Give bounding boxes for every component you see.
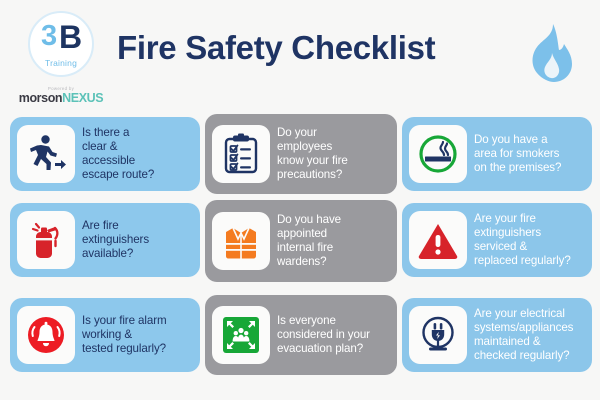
question-line: Is everyone bbox=[277, 314, 370, 328]
card-question: Are fire extinguishers available? bbox=[82, 219, 149, 262]
question-line: available? bbox=[82, 247, 149, 261]
logo-letter-b: B bbox=[59, 21, 82, 53]
logo-circle-3b-training: 3 B Training bbox=[28, 11, 94, 77]
card-extinguishers-serviced[interactable]: Are your fire extinguishers serviced & r… bbox=[402, 203, 592, 277]
card-evacuation-plan[interactable]: Is everyone considered in your evacuatio… bbox=[205, 295, 397, 375]
icon-tile bbox=[212, 212, 270, 270]
question-line: precautions? bbox=[277, 168, 348, 182]
question-line: know your fire bbox=[277, 154, 348, 168]
question-line: serviced & bbox=[474, 240, 571, 254]
card-question: Is everyone considered in your evacuatio… bbox=[277, 314, 370, 357]
icon-tile bbox=[409, 125, 467, 183]
question-line: escape route? bbox=[82, 168, 154, 182]
icon-tile bbox=[409, 306, 467, 364]
question-line: tested regularly? bbox=[82, 342, 167, 356]
card-question: Do your employees know your fire precaut… bbox=[277, 126, 348, 183]
question-line: extinguishers bbox=[82, 233, 149, 247]
card-escape-route[interactable]: Is there a clear & accessible escape rou… bbox=[10, 117, 200, 191]
card-fire-alarm[interactable]: Is your fire alarm working & tested regu… bbox=[10, 298, 200, 372]
icon-tile bbox=[17, 306, 75, 364]
question-line: Are your fire bbox=[474, 212, 571, 226]
question-line: extinguishers bbox=[474, 226, 571, 240]
icon-tile bbox=[17, 211, 75, 269]
question-line: Do you have bbox=[277, 213, 341, 227]
question-line: Are your electrical bbox=[474, 307, 573, 321]
card-question: Are your fire extinguishers serviced & r… bbox=[474, 212, 571, 269]
question-line: wardens? bbox=[277, 255, 341, 269]
question-line: maintained & bbox=[474, 335, 573, 349]
card-question: Do you have appointed internal fire ward… bbox=[277, 213, 341, 270]
alarm-bell-icon bbox=[25, 314, 67, 356]
icon-tile bbox=[212, 125, 270, 183]
question-line: appointed bbox=[277, 227, 341, 241]
morson-nexus-wordmark: morsonNEXUS bbox=[14, 92, 108, 105]
question-line: Is there a bbox=[82, 126, 154, 140]
assembly-point-icon bbox=[220, 314, 262, 356]
card-question: Do you have a area for smokers on the pr… bbox=[474, 133, 561, 176]
morson-word: morson bbox=[19, 91, 62, 105]
brand-logo: 3 B Training Powered by morsonNEXUS bbox=[14, 11, 108, 105]
card-smoking-area[interactable]: Do you have a area for smokers on the pr… bbox=[402, 117, 592, 191]
question-line: replaced regularly? bbox=[474, 254, 571, 268]
header: 3 B Training Powered by morsonNEXUS Fire… bbox=[0, 0, 600, 108]
fire-extinguisher-icon bbox=[25, 219, 67, 261]
icon-tile bbox=[409, 211, 467, 269]
card-question: Is there a clear & accessible escape rou… bbox=[82, 126, 154, 183]
card-extinguishers-available[interactable]: Are fire extinguishers available? bbox=[10, 203, 200, 277]
question-line: evacuation plan? bbox=[277, 342, 370, 356]
flame-icon bbox=[522, 22, 580, 84]
question-line: accessible bbox=[82, 154, 154, 168]
question-line: working & bbox=[82, 328, 167, 342]
card-question: Is your fire alarm working & tested regu… bbox=[82, 314, 167, 357]
question-line: systems/appliances bbox=[474, 321, 573, 335]
running-person-exit-icon bbox=[25, 133, 67, 175]
clipboard-checklist-icon bbox=[220, 133, 262, 175]
question-line: Do you have a bbox=[474, 133, 561, 147]
logo-training-text: Training bbox=[30, 58, 92, 68]
card-question: Are your electrical systems/appliances m… bbox=[474, 307, 573, 364]
question-line: clear & bbox=[82, 140, 154, 154]
warning-triangle-icon bbox=[417, 219, 459, 261]
question-line: Is your fire alarm bbox=[82, 314, 167, 328]
checklist-grid: Is there a clear & accessible escape rou… bbox=[0, 108, 600, 400]
page-title: Fire Safety Checklist bbox=[117, 29, 435, 67]
card-electrical-systems[interactable]: Are your electrical systems/appliances m… bbox=[402, 298, 592, 372]
question-line: on the premises? bbox=[474, 161, 561, 175]
smoking-area-icon bbox=[417, 133, 459, 175]
icon-tile bbox=[212, 306, 270, 364]
question-line: internal fire bbox=[277, 241, 341, 255]
logo-numeral-3: 3 bbox=[41, 22, 56, 51]
question-line: Are fire bbox=[82, 219, 149, 233]
nexus-word: NEXUS bbox=[62, 91, 103, 105]
question-line: checked regularly? bbox=[474, 349, 573, 363]
icon-tile bbox=[17, 125, 75, 183]
hi-vis-vest-icon bbox=[220, 220, 262, 262]
question-line: employees bbox=[277, 140, 348, 154]
electrical-plug-icon bbox=[417, 314, 459, 356]
question-line: considered in your bbox=[277, 328, 370, 342]
card-fire-wardens[interactable]: Do you have appointed internal fire ward… bbox=[205, 200, 397, 282]
card-fire-precautions[interactable]: Do your employees know your fire precaut… bbox=[205, 114, 397, 194]
question-line: Do your bbox=[277, 126, 348, 140]
question-line: area for smokers bbox=[474, 147, 561, 161]
